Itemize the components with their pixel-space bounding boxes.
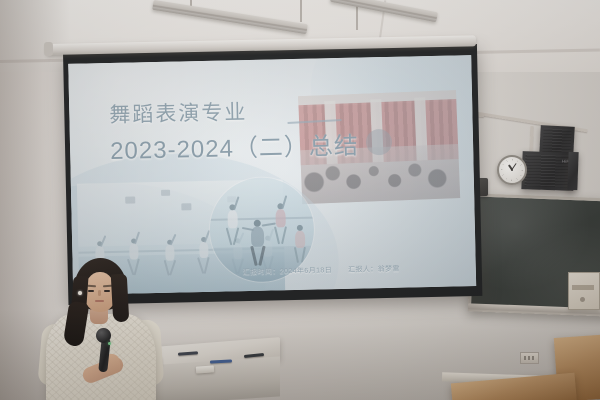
slide-title-block: 舞蹈表演专业 2023-2024（二）总结 <box>109 92 450 166</box>
presenter <box>42 258 160 400</box>
microphone-led-indicator <box>108 342 111 345</box>
wall-speaker-side-panel <box>567 152 578 190</box>
presenter-eye-left <box>88 290 94 292</box>
presenter-mouth <box>95 300 104 302</box>
photo-ceiling-panel-1 <box>125 196 135 203</box>
power-outlet[interactable] <box>520 352 539 364</box>
screen-housing-cap <box>44 42 53 56</box>
clock-center-pin <box>511 169 513 171</box>
photo-ceiling-panel-3 <box>181 203 191 210</box>
presenter-hair-side-right <box>111 274 129 323</box>
slide-report-date: 汇报时间：2024年6月18日 <box>243 265 332 277</box>
classroom-presentation-photo: 舞蹈表演专业 2023-2024（二）总结 汇报时间：2024年6月18日 汇报… <box>0 0 600 400</box>
wall-box-label-plate <box>572 285 594 290</box>
pendant-rod-left-b <box>300 0 302 22</box>
microphone-head-icon <box>96 328 111 343</box>
presenter-eye-right <box>104 290 110 292</box>
board-eraser-secondary[interactable] <box>196 365 214 373</box>
photo-ceiling-panel-2 <box>161 190 170 196</box>
slide-title-line-2: 2023-2024（二）总结 <box>110 124 451 166</box>
slide-footer-meta: 汇报时间：2024年6月18日 汇报人：翁梦雷 <box>243 264 400 277</box>
wall-clock <box>497 155 527 185</box>
slide-title-line-1: 舞蹈表演专业 <box>109 92 450 129</box>
presenter-nose <box>98 290 101 296</box>
wall-control-box[interactable] <box>568 272 600 310</box>
wall-box-indicator <box>580 297 585 302</box>
slide-reporter-name: 汇报人：翁梦雷 <box>348 264 400 275</box>
photo-barre-line <box>210 216 314 220</box>
presenter-earring <box>78 291 82 295</box>
speaker-grill-upper <box>542 128 571 153</box>
